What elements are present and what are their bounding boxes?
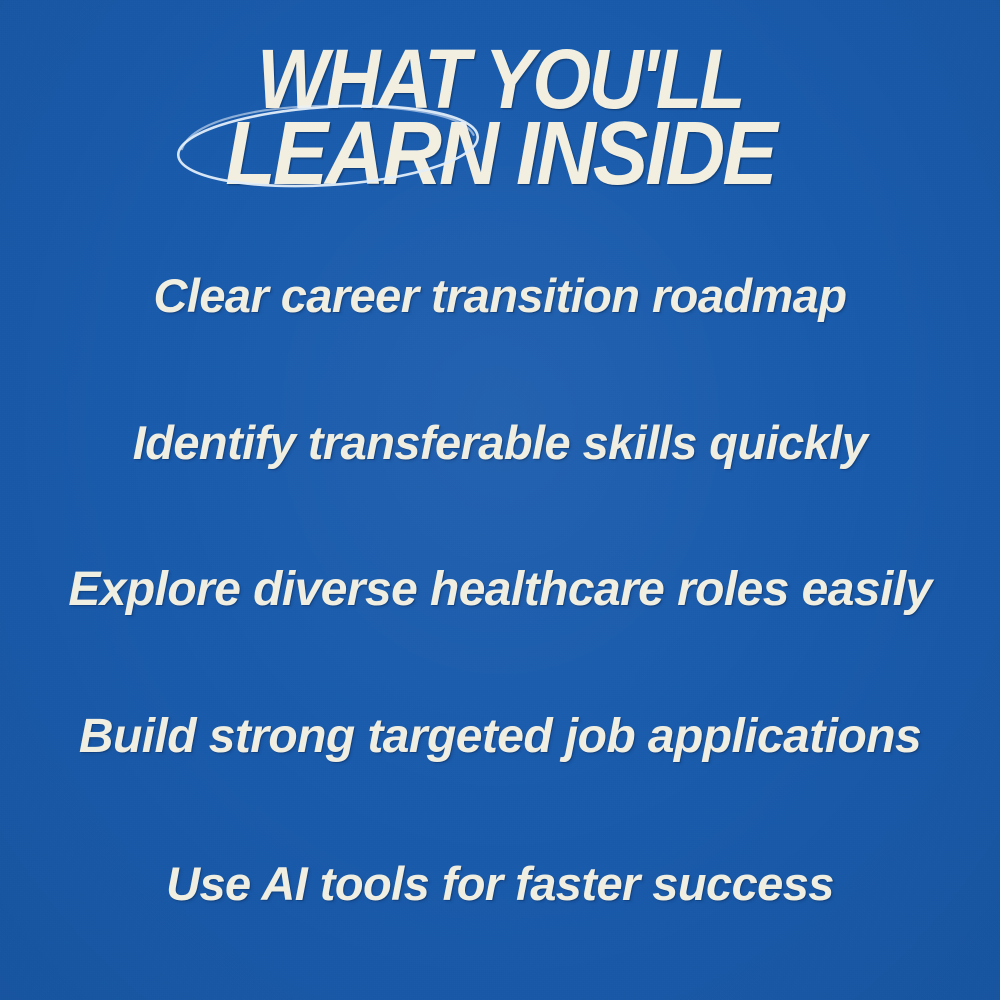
page-title: WHAT YOU'LL LEARN INSIDE [0,44,1000,192]
poster-canvas: WHAT YOU'LL LEARN INSIDE Clear career tr… [0,0,1000,1000]
list-item: Build strong targeted job applications [0,663,1000,810]
benefit-list: Clear career transition roadmap Identify… [0,222,1000,957]
list-item: Clear career transition roadmap [0,222,1000,369]
list-item: Explore diverse healthcare roles easily [0,516,1000,663]
list-item: Identify transferable skills quickly [0,369,1000,516]
heading-line-2: LEARN INSIDE [40,117,960,193]
list-item: Use AI tools for faster success [0,810,1000,957]
